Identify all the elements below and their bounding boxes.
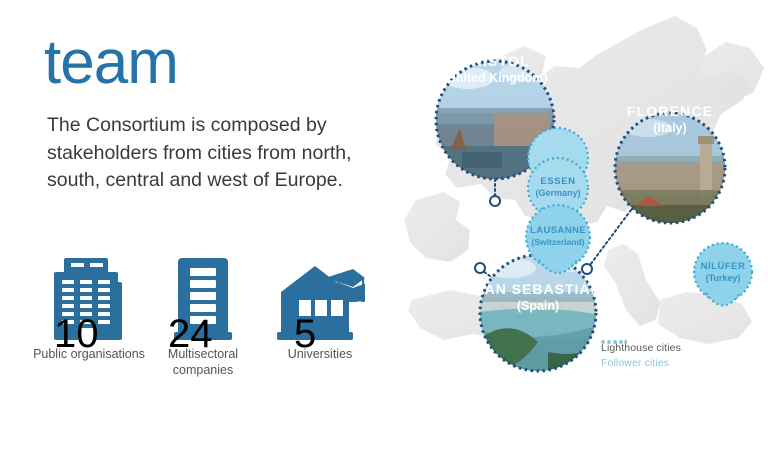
lighthouse-city-country: (Spain) bbox=[517, 299, 559, 313]
map-legend: Lighthouse cities Follower cities bbox=[601, 340, 741, 370]
stat-number: 24 bbox=[168, 314, 213, 354]
follower-city-country: (Switzerland) bbox=[532, 237, 585, 247]
university-building-icon: 5 bbox=[261, 252, 379, 340]
lighthouse-city-name: FLORENCE bbox=[627, 103, 714, 119]
team-slide: team The Consortium is composed by stake… bbox=[0, 0, 768, 455]
stat-public-organisations: 10 Public organisations bbox=[30, 252, 148, 362]
stat-number: 10 bbox=[54, 314, 99, 354]
stat-caption: Universities bbox=[261, 346, 379, 362]
follower-city-name: ESSEN bbox=[540, 176, 575, 187]
lighthouse-city-name: BRISTOL bbox=[460, 53, 530, 69]
tower-building-icon: 24 bbox=[144, 252, 262, 340]
lighthouse-city-country: (Italy) bbox=[653, 121, 686, 135]
legend-item-follower: Follower cities bbox=[601, 355, 741, 370]
stat-multisectoral-companies: 24 Multisectoral companies bbox=[144, 252, 262, 378]
stat-number: 5 bbox=[294, 314, 316, 354]
office-building-icon: 10 bbox=[30, 252, 148, 340]
lighthouse-city-country: (United Kingdom) bbox=[443, 71, 548, 85]
follower-city-name: LAUSANNE bbox=[530, 225, 586, 236]
follower-city-country: (Germany) bbox=[535, 188, 580, 198]
europe-map: BRISTOL (United Kingdom) bbox=[398, 0, 768, 455]
stat-universities: 5 Universities bbox=[261, 252, 379, 362]
follower-city-name: NİLÜFER bbox=[701, 261, 746, 272]
lighthouse-city-name: SAN SEBASTIÁN bbox=[474, 281, 601, 297]
legend-dots-follower bbox=[601, 340, 627, 344]
left-panel: team The Consortium is composed by stake… bbox=[0, 0, 400, 455]
stats-row: 10 Public organisations bbox=[18, 252, 388, 402]
page-title: team bbox=[44, 32, 178, 94]
legend-label: Follower cities bbox=[601, 357, 669, 369]
map-svg: BRISTOL (United Kingdom) bbox=[398, 0, 768, 455]
follower-city-country: (Turkey) bbox=[706, 273, 741, 283]
lead-paragraph: The Consortium is composed by stakeholde… bbox=[47, 112, 377, 195]
